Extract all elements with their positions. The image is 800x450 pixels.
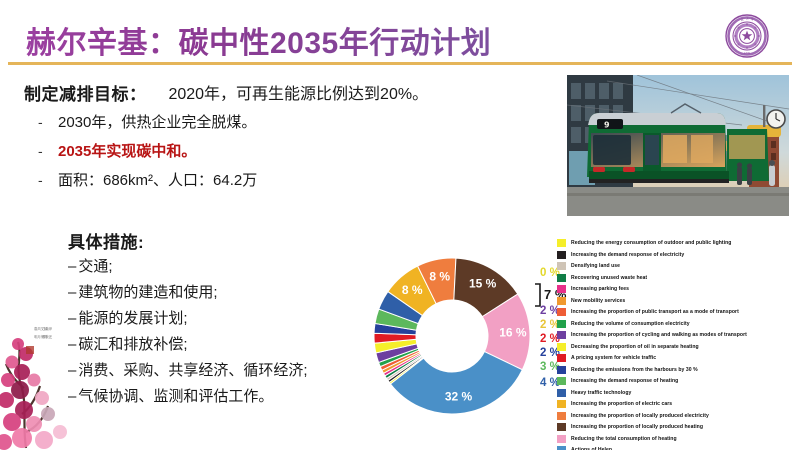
slide-root: 赫尔辛基：碳中性2035年行动计划 北大学 1895 制定减 (0, 0, 800, 450)
plum-blossom-icon: 春风又绿江南岸 明月何时照我还 (0, 318, 84, 450)
svg-text:学: 学 (751, 18, 754, 22)
slice-label: 8 % (402, 283, 423, 297)
legend-item: Reducing the volume of consumption elect… (557, 319, 797, 330)
goal-sub-text: 2030年，供热企业完全脱煤。 (58, 114, 256, 132)
goal-sub-item-2: - 2035年实现碳中和。 (24, 143, 564, 161)
legend-label: Reducing the volume of consumption elect… (571, 320, 690, 328)
legend-color-swatch (557, 239, 566, 247)
slice-label: 8 % (429, 269, 450, 283)
legend-item: Increasing the demand response of heatin… (557, 376, 797, 387)
legend-label: Reducing the total consumption of heatin… (571, 435, 677, 443)
measure-text: 碳汇和排放补偿; (78, 336, 187, 353)
dash: – (68, 258, 76, 275)
legend-color-swatch (557, 320, 566, 328)
legend-label: Reducing the energy consumption of outdo… (571, 239, 731, 247)
legend-label: Densifying land use (571, 262, 620, 270)
bullet-dash: - (24, 114, 58, 131)
legend-item: Densifying land use (557, 261, 797, 272)
legend-item: Increasing the proportion of cycling and… (557, 330, 797, 341)
legend-color-swatch (557, 400, 566, 408)
helsinki-tram-photo: 9 (567, 75, 789, 216)
measure-text: 建筑物的建造和使用; (78, 284, 217, 301)
legend-color-swatch (557, 389, 566, 397)
legend-color-swatch (557, 308, 566, 316)
legend-color-swatch (557, 262, 566, 270)
legend-label: Decreasing the proportion of oil in sepa… (571, 343, 699, 351)
legend-label: Increasing the proportion of locally pro… (571, 412, 709, 420)
goal-sub-text-highlight: 2035年实现碳中和。 (58, 143, 196, 161)
legend-color-swatch (557, 423, 566, 431)
title-divider (8, 62, 792, 65)
legend-label: Increasing the demand response of electr… (571, 251, 684, 259)
slice-label: 15 % (469, 276, 497, 290)
list-item: –能源的发展计划; (68, 311, 368, 326)
bracket-line (535, 284, 540, 306)
svg-text:江南岸: 江南岸 (42, 326, 53, 331)
list-item: –交通; (68, 259, 368, 274)
legend-color-swatch (557, 274, 566, 282)
legend-item: Reducing the total consumption of heatin… (557, 434, 797, 445)
legend-label: Increasing the proportion of electric ca… (571, 400, 672, 408)
slice-label: 16 % (499, 325, 527, 339)
legend-color-swatch (557, 446, 566, 450)
svg-text:9: 9 (604, 121, 610, 130)
goal-sub-item-1: - 2030年，供热企业完全脱煤。 (24, 114, 564, 132)
legend-label: Increasing the demand response of heatin… (571, 377, 678, 385)
bullet-dash: - (24, 172, 58, 189)
legend-item: Increasing the demand response of electr… (557, 250, 797, 261)
svg-text:北: 北 (741, 18, 744, 22)
legend-item: Increasing the proportion of locally pro… (557, 411, 797, 422)
page-title: 赫尔辛基：碳中性2035年行动计划 (26, 18, 491, 62)
donut-chart: 8 %8 %15 %16 %32 %0 %2 %2 %2 %2 %3 %4 %7… (352, 236, 552, 436)
university-seal-icon: 北大学 1895 (725, 14, 769, 58)
legend-label: Increasing the proportion of cycling and… (571, 331, 747, 339)
legend-item: Decreasing the proportion of oil in sepa… (557, 342, 797, 353)
goal-sub-item-3: - 面积：686km²、人口：64.2万 (24, 172, 564, 190)
measure-text: 交通; (78, 258, 112, 275)
legend-item: Actions of Helen (557, 445, 797, 450)
legend-item: Increasing the proportion of locally pro… (557, 422, 797, 433)
legend-color-swatch (557, 343, 566, 351)
legend-label: Increasing the proportion of public tran… (571, 308, 739, 316)
legend-label: A pricing system for vehicle traffic (571, 354, 656, 362)
goals-sub-list: - 2030年，供热企业完全脱煤。 - 2035年实现碳中和。 - 面积：686… (24, 114, 564, 190)
svg-text:照我还: 照我还 (42, 334, 53, 339)
slice-label: 32 % (445, 390, 473, 404)
legend-label: New mobility services (571, 297, 625, 305)
svg-text:大: 大 (746, 17, 749, 21)
measure-text: 能源的发展计划; (78, 310, 187, 327)
list-item: –建筑物的建造和使用; (68, 285, 368, 300)
legend-label: Increasing the proportion of locally pro… (571, 423, 703, 431)
legend-label: Reducing the emissions from the harbours… (571, 366, 698, 374)
legend-item: New mobility services (557, 296, 797, 307)
legend-item: Reducing the energy consumption of outdo… (557, 238, 797, 249)
measures-heading: 具体措施: (68, 228, 368, 253)
goals-block: 制定减排目标： 2020年，可再生能源比例达到20%。 - 2030年，供热企业… (24, 80, 564, 201)
legend-color-swatch (557, 435, 566, 443)
legend-label: Increasing parking fees (571, 285, 629, 293)
legend-color-swatch (557, 331, 566, 339)
svg-text:1895: 1895 (744, 52, 751, 55)
bullet-dash: - (24, 143, 58, 160)
legend-label: Actions of Helen (571, 446, 612, 450)
goals-first-item: 2020年，可再生能源比例达到20%。 (168, 80, 428, 104)
list-item: –气候协调、监测和评估工作。 (68, 389, 368, 404)
legend-item: Increasing parking fees (557, 284, 797, 295)
legend-item: Increasing the proportion of electric ca… (557, 399, 797, 410)
legend-color-swatch (557, 377, 566, 385)
measure-text: 消费、采购、共享经济、循环经济; (78, 362, 307, 379)
legend-item: Heavy traffic technology (557, 388, 797, 399)
legend-label: Recovering unused waste heat (571, 274, 647, 282)
legend-item: Recovering unused waste heat (557, 273, 797, 284)
legend-color-swatch (557, 366, 566, 374)
legend-item: Increasing the proportion of public tran… (557, 307, 797, 318)
legend-item: A pricing system for vehicle traffic (557, 353, 797, 364)
legend-color-swatch (557, 285, 566, 293)
list-item: –消费、采购、共享经济、循环经济; (68, 363, 368, 378)
measures-block: 具体措施: –交通; –建筑物的建造和使用; –能源的发展计划; –碳汇和排放补… (68, 228, 368, 415)
legend-color-swatch (557, 251, 566, 259)
goal-sub-text: 面积：686km²、人口：64.2万 (58, 172, 257, 190)
measures-list: –交通; –建筑物的建造和使用; –能源的发展计划; –碳汇和排放补偿; –消费… (68, 259, 368, 404)
chart-legend: Reducing the energy consumption of outdo… (557, 238, 797, 450)
legend-color-swatch (557, 412, 566, 420)
legend-item: Reducing the emissions from the harbours… (557, 365, 797, 376)
dash: – (68, 284, 76, 301)
legend-label: Heavy traffic technology (571, 389, 631, 397)
goals-heading: 制定减排目标： (24, 80, 164, 105)
measure-text: 气候协调、监测和评估工作。 (78, 388, 273, 405)
list-item: –碳汇和排放补偿; (68, 337, 368, 352)
legend-color-swatch (557, 354, 566, 362)
legend-color-swatch (557, 297, 566, 305)
